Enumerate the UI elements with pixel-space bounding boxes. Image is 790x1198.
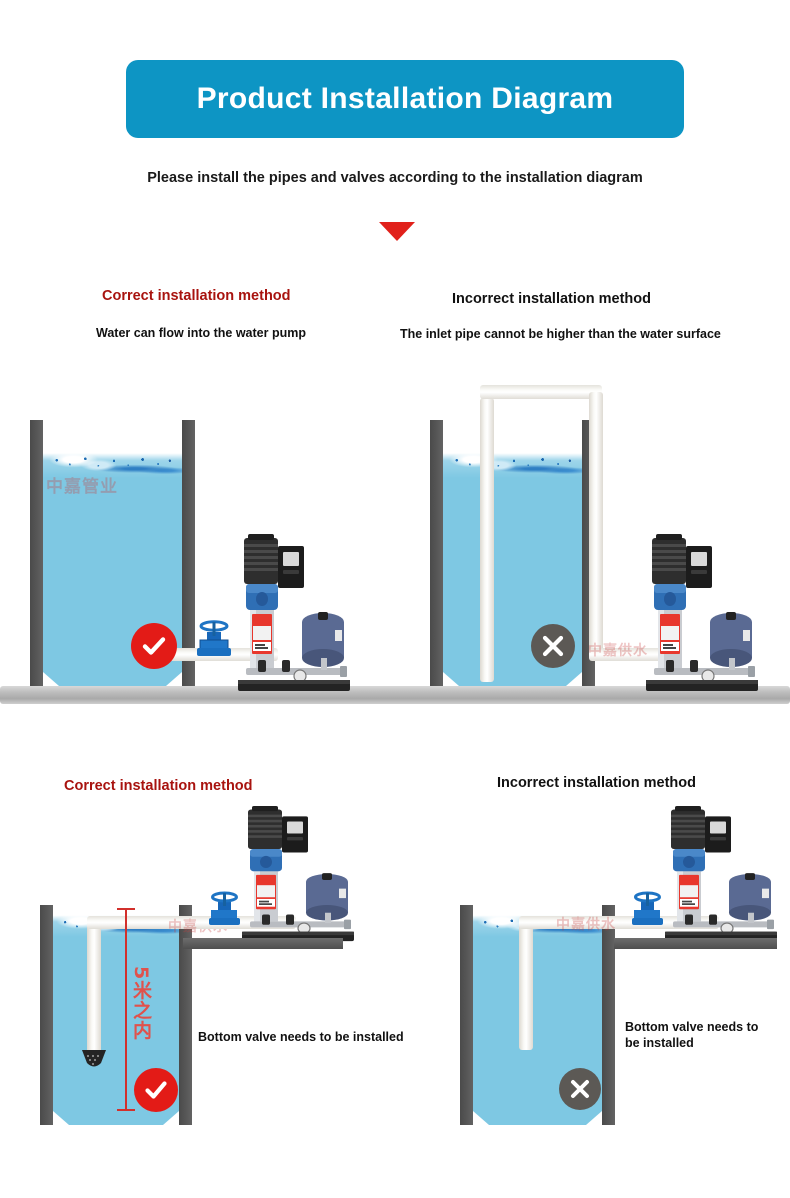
suction-pipe-row2-correct <box>87 918 101 1056</box>
section-heading-row1-correct: Correct installation method <box>102 288 291 304</box>
water-surface-wave <box>443 432 582 478</box>
foot-valve-strainer-icon <box>80 1048 108 1070</box>
pump-assembly-row2-incorrect <box>655 806 783 942</box>
tank-wall-left <box>430 420 443 686</box>
status-badge-correct-row2 <box>134 1068 178 1112</box>
tank-wall-left <box>40 905 53 1125</box>
dimension-line <box>125 908 127 1110</box>
section-heading-row2-correct: Correct installation method <box>64 778 253 794</box>
inlet-pipe-top-horizontal <box>480 385 602 399</box>
section-desc-row1-correct: Water can flow into the water pump <box>96 326 306 340</box>
page-title-banner: Product Installation Diagram <box>126 60 684 138</box>
cross-mark-icon <box>540 633 566 659</box>
pump-assembly-row1-incorrect <box>636 534 764 692</box>
status-badge-correct-row1 <box>131 623 177 669</box>
section-desc-row2-incorrect: Bottom valve needs to be installed <box>625 1020 775 1051</box>
pump-assembly-row1-correct <box>228 534 356 692</box>
inlet-pipe-vertical-inside <box>480 398 494 682</box>
section-heading-row2-incorrect: Incorrect installation method <box>497 775 696 791</box>
pump-assembly-row2-correct <box>232 806 360 942</box>
check-mark-icon <box>140 632 168 660</box>
inlet-pipe-vertical-outside <box>589 392 603 656</box>
check-mark-icon <box>143 1077 169 1103</box>
dimension-cap-bottom <box>117 1109 135 1111</box>
section-desc-row1-incorrect: The inlet pipe cannot be higher than the… <box>400 327 721 341</box>
section-desc-row2-correct: Bottom valve needs to be installed <box>198 1030 404 1046</box>
pump-shelf-row2-incorrect <box>614 938 777 949</box>
page-subtitle: Please install the pipes and valves acco… <box>0 170 790 186</box>
tank-wall-left <box>30 420 43 686</box>
status-badge-incorrect-row2 <box>559 1068 601 1110</box>
water-surface-wave <box>43 432 182 478</box>
pump-shelf-row2-correct <box>183 938 343 949</box>
dimension-label: 5米之内 <box>128 966 155 1040</box>
page-title: Product Installation Diagram <box>197 82 614 116</box>
status-badge-incorrect-row1 <box>531 624 575 668</box>
cross-mark-icon <box>568 1077 592 1101</box>
tank-wall-left <box>460 905 473 1125</box>
arrow-down-icon <box>379 222 415 241</box>
suction-pipe-row2-incorrect <box>519 918 533 1050</box>
section-heading-row1-incorrect: Incorrect installation method <box>452 291 651 307</box>
